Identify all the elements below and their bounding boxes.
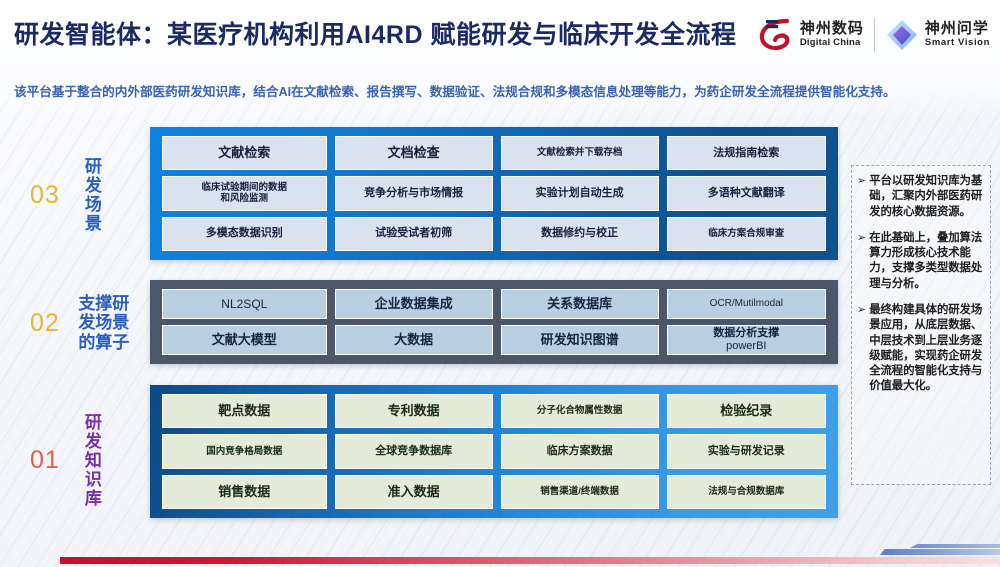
page-title: 研发智能体：某医疗机构利用AI4RD 赋能研发与临床开发全流程	[14, 15, 736, 51]
logo-divider	[874, 18, 875, 52]
card-big-data[interactable]: 大数据	[335, 325, 493, 355]
card-cell: 研发知识图谱	[501, 325, 667, 355]
note-text: 平台以研发知识库为基础，汇聚内外部医药研发的核心数据资源。	[869, 174, 984, 220]
card-cell: NL2SQL	[162, 289, 335, 319]
card-protocol-compliance-review[interactable]: 临床方案合规审查	[667, 217, 826, 251]
card-cell: 文档检查	[335, 136, 501, 170]
card-cell: 试验受试者初筛	[335, 217, 501, 251]
card-cell: 临床方案数据	[501, 434, 667, 468]
card-cell: 销售数据	[162, 475, 335, 509]
digital-china-mark-icon	[757, 16, 795, 54]
digital-china-wordmark: 神州数码 Digital China	[800, 21, 864, 48]
card-domestic-competition-data[interactable]: 国内竞争格局数据	[162, 434, 327, 468]
note-item: ➢ 最终构建具体的研发场景应用，从底层数据、中层技术到上层业务逐级赋能，实现药企…	[857, 303, 984, 395]
card-trial-data-risk-monitor[interactable]: 临床试验期间的数据 和风险监测	[162, 176, 327, 210]
layer-number-02: 02	[30, 309, 60, 338]
digital-china-cn: 神州数码	[800, 21, 864, 37]
card-sales-channel-terminal-data[interactable]: 销售渠道/终端数据	[501, 475, 659, 509]
card-row: NL2SQL 企业数据集成 关系数据库 OCR/Mutilmodal	[162, 289, 826, 319]
card-cell: 临床方案合规审查	[667, 217, 826, 251]
card-cell: 国内竞争格局数据	[162, 434, 335, 468]
card-relational-database[interactable]: 关系数据库	[501, 289, 659, 319]
card-row: 文献检索 文档检查 文献检索并下载存档 法规指南检索	[162, 136, 826, 170]
card-market-access-data[interactable]: 准入数据	[335, 475, 493, 509]
card-cell: 文献检索并下载存档	[501, 136, 667, 170]
layer-index-02: 02 支撑研发场景的算子	[30, 288, 148, 358]
bullet-arrow-icon: ➢	[857, 174, 866, 220]
smart-vision-cn: 神州问学	[925, 21, 990, 37]
card-nl2sql[interactable]: NL2SQL	[162, 289, 327, 319]
card-multilingual-translation[interactable]: 多语种文献翻译	[667, 176, 826, 210]
card-regulatory-guide-search[interactable]: 法规指南检索	[667, 136, 826, 170]
card-data-rounding-correction[interactable]: 数据修约与校正	[501, 217, 659, 251]
card-cell: 数据分析支撑 powerBI	[667, 325, 826, 355]
card-cell: 检验纪录	[667, 394, 826, 428]
card-literature-llm[interactable]: 文献大模型	[162, 325, 327, 355]
card-inspection-records[interactable]: 检验纪录	[667, 394, 826, 428]
note-item: ➢ 在此基础上，叠加算法算力形成核心技术能力，支撑多类型数据处理与分析。	[857, 231, 984, 292]
digital-china-logo: 神州数码 Digital China	[757, 16, 864, 54]
card-data-analysis-powerbi[interactable]: 数据分析支撑 powerBI	[667, 325, 826, 355]
card-line-primary: 数据分析支撑	[713, 327, 779, 340]
card-molecular-property-data[interactable]: 分子化合物属性数据	[501, 394, 659, 428]
card-literature-search-download[interactable]: 文献检索并下载存档	[501, 136, 659, 170]
smart-vision-diamond-icon	[885, 18, 919, 52]
card-cell: 数据修约与校正	[501, 217, 667, 251]
card-multimodal-recognition[interactable]: 多模态数据识别	[162, 217, 327, 251]
card-row: 国内竞争格局数据 全球竞争数据库 临床方案数据 实验与研发记录	[162, 434, 826, 468]
card-cell: 大数据	[335, 325, 501, 355]
card-row: 临床试验期间的数据 和风险监测 竞争分析与市场情报 实验计划自动生成 多语种文献…	[162, 176, 826, 210]
card-cell: 临床试验期间的数据 和风险监测	[162, 176, 335, 210]
card-line-secondary: powerBI	[726, 340, 766, 353]
card-cell: 分子化合物属性数据	[501, 394, 667, 428]
layer-index-03: 03 研发场景	[30, 145, 148, 245]
layer-number-01: 01	[30, 446, 60, 475]
card-competitive-market-intel[interactable]: 竞争分析与市场情报	[335, 176, 493, 210]
card-row: 多模态数据识别 试验受试者初筛 数据修约与校正 临床方案合规审查	[162, 217, 826, 251]
card-row: 靶点数据 专利数据 分子化合物属性数据 检验纪录	[162, 394, 826, 428]
card-cell: 靶点数据	[162, 394, 335, 428]
digital-china-en: Digital China	[800, 37, 864, 48]
card-sales-data[interactable]: 销售数据	[162, 475, 327, 509]
card-enterprise-data-integration[interactable]: 企业数据集成	[335, 289, 493, 319]
smart-vision-logo: 神州问学 Smart Vision	[885, 18, 990, 52]
card-cell: 实验与研发记录	[667, 434, 826, 468]
card-cell: OCR/Mutilmodal	[667, 289, 826, 319]
bullet-arrow-icon: ➢	[857, 303, 866, 395]
card-literature-search[interactable]: 文献检索	[162, 136, 327, 170]
layer-label-01: 研发知识库	[82, 413, 101, 508]
note-text: 在此基础上，叠加算法算力形成核心技术能力，支撑多类型数据处理与分析。	[869, 231, 984, 292]
card-document-check[interactable]: 文档检查	[335, 136, 493, 170]
card-ocr-multimodal[interactable]: OCR/Mutilmodal	[667, 289, 826, 319]
card-patent-data[interactable]: 专利数据	[335, 394, 493, 428]
card-cell: 多语种文献翻译	[667, 176, 826, 210]
card-cell: 文献大模型	[162, 325, 335, 355]
card-experiment-plan-autogen[interactable]: 实验计划自动生成	[501, 176, 659, 210]
card-global-competition-db[interactable]: 全球竞争数据库	[335, 434, 493, 468]
card-clinical-protocol-data[interactable]: 临床方案数据	[501, 434, 659, 468]
card-target-data[interactable]: 靶点数据	[162, 394, 327, 428]
layer-panel-knowledge-base: 靶点数据 专利数据 分子化合物属性数据 检验纪录 国内竞争格局数据 全球竞争数据…	[150, 385, 838, 518]
card-row: 销售数据 准入数据 销售渠道/终端数据 法规与合规数据库	[162, 475, 826, 509]
layer-label-02: 支撑研发场景的算子	[72, 294, 136, 351]
card-cell: 文献检索	[162, 136, 335, 170]
footer-red-accent	[60, 557, 1000, 564]
layer-panel-operators: NL2SQL 企业数据集成 关系数据库 OCR/Mutilmodal 文献大模型…	[150, 280, 838, 364]
card-rd-knowledge-graph[interactable]: 研发知识图谱	[501, 325, 659, 355]
smart-vision-en: Smart Vision	[925, 37, 990, 48]
layer-number-03: 03	[30, 181, 60, 210]
footer-blue-accent	[880, 549, 1000, 555]
card-cell: 法规指南检索	[667, 136, 826, 170]
card-cell: 准入数据	[335, 475, 501, 509]
card-row: 文献大模型 大数据 研发知识图谱 数据分析支撑 powerBI	[162, 325, 826, 355]
page-subtitle: 该平台基于整合的内外部医药研发知识库，结合AI在文献检索、报告撰写、数据验证、法…	[14, 81, 989, 100]
logo-group: 神州数码 Digital China 神州问学 Smart V	[757, 16, 990, 54]
footer-blue-accent-thin	[910, 544, 1000, 548]
card-cell: 法规与合规数据库	[667, 475, 826, 509]
smart-vision-wordmark: 神州问学 Smart Vision	[925, 21, 990, 48]
layer-panel-scenarios: 文献检索 文档检查 文献检索并下载存档 法规指南检索 临床试验期间的数据 和风险…	[150, 127, 838, 260]
notes-panel: ➢ 平台以研发知识库为基础，汇聚内外部医药研发的核心数据资源。 ➢ 在此基础上，…	[851, 165, 991, 485]
layer-index-01: 01 研发知识库	[30, 405, 148, 515]
note-text: 最终构建具体的研发场景应用，从底层数据、中层技术到上层业务逐级赋能，实现药企研发…	[869, 303, 984, 395]
card-regulatory-compliance-db[interactable]: 法规与合规数据库	[667, 475, 826, 509]
card-cell: 多模态数据识别	[162, 217, 335, 251]
card-cell: 企业数据集成	[335, 289, 501, 319]
layer-label-03: 研发场景	[82, 157, 101, 233]
card-experiment-rd-records[interactable]: 实验与研发记录	[667, 434, 826, 468]
card-cell: 全球竞争数据库	[335, 434, 501, 468]
card-subject-prescreening[interactable]: 试验受试者初筛	[335, 217, 493, 251]
card-cell: 竞争分析与市场情报	[335, 176, 501, 210]
card-cell: 关系数据库	[501, 289, 667, 319]
card-cell: 实验计划自动生成	[501, 176, 667, 210]
note-item: ➢ 平台以研发知识库为基础，汇聚内外部医药研发的核心数据资源。	[857, 174, 984, 220]
card-cell: 专利数据	[335, 394, 501, 428]
card-cell: 销售渠道/终端数据	[501, 475, 667, 509]
bullet-arrow-icon: ➢	[857, 231, 866, 292]
